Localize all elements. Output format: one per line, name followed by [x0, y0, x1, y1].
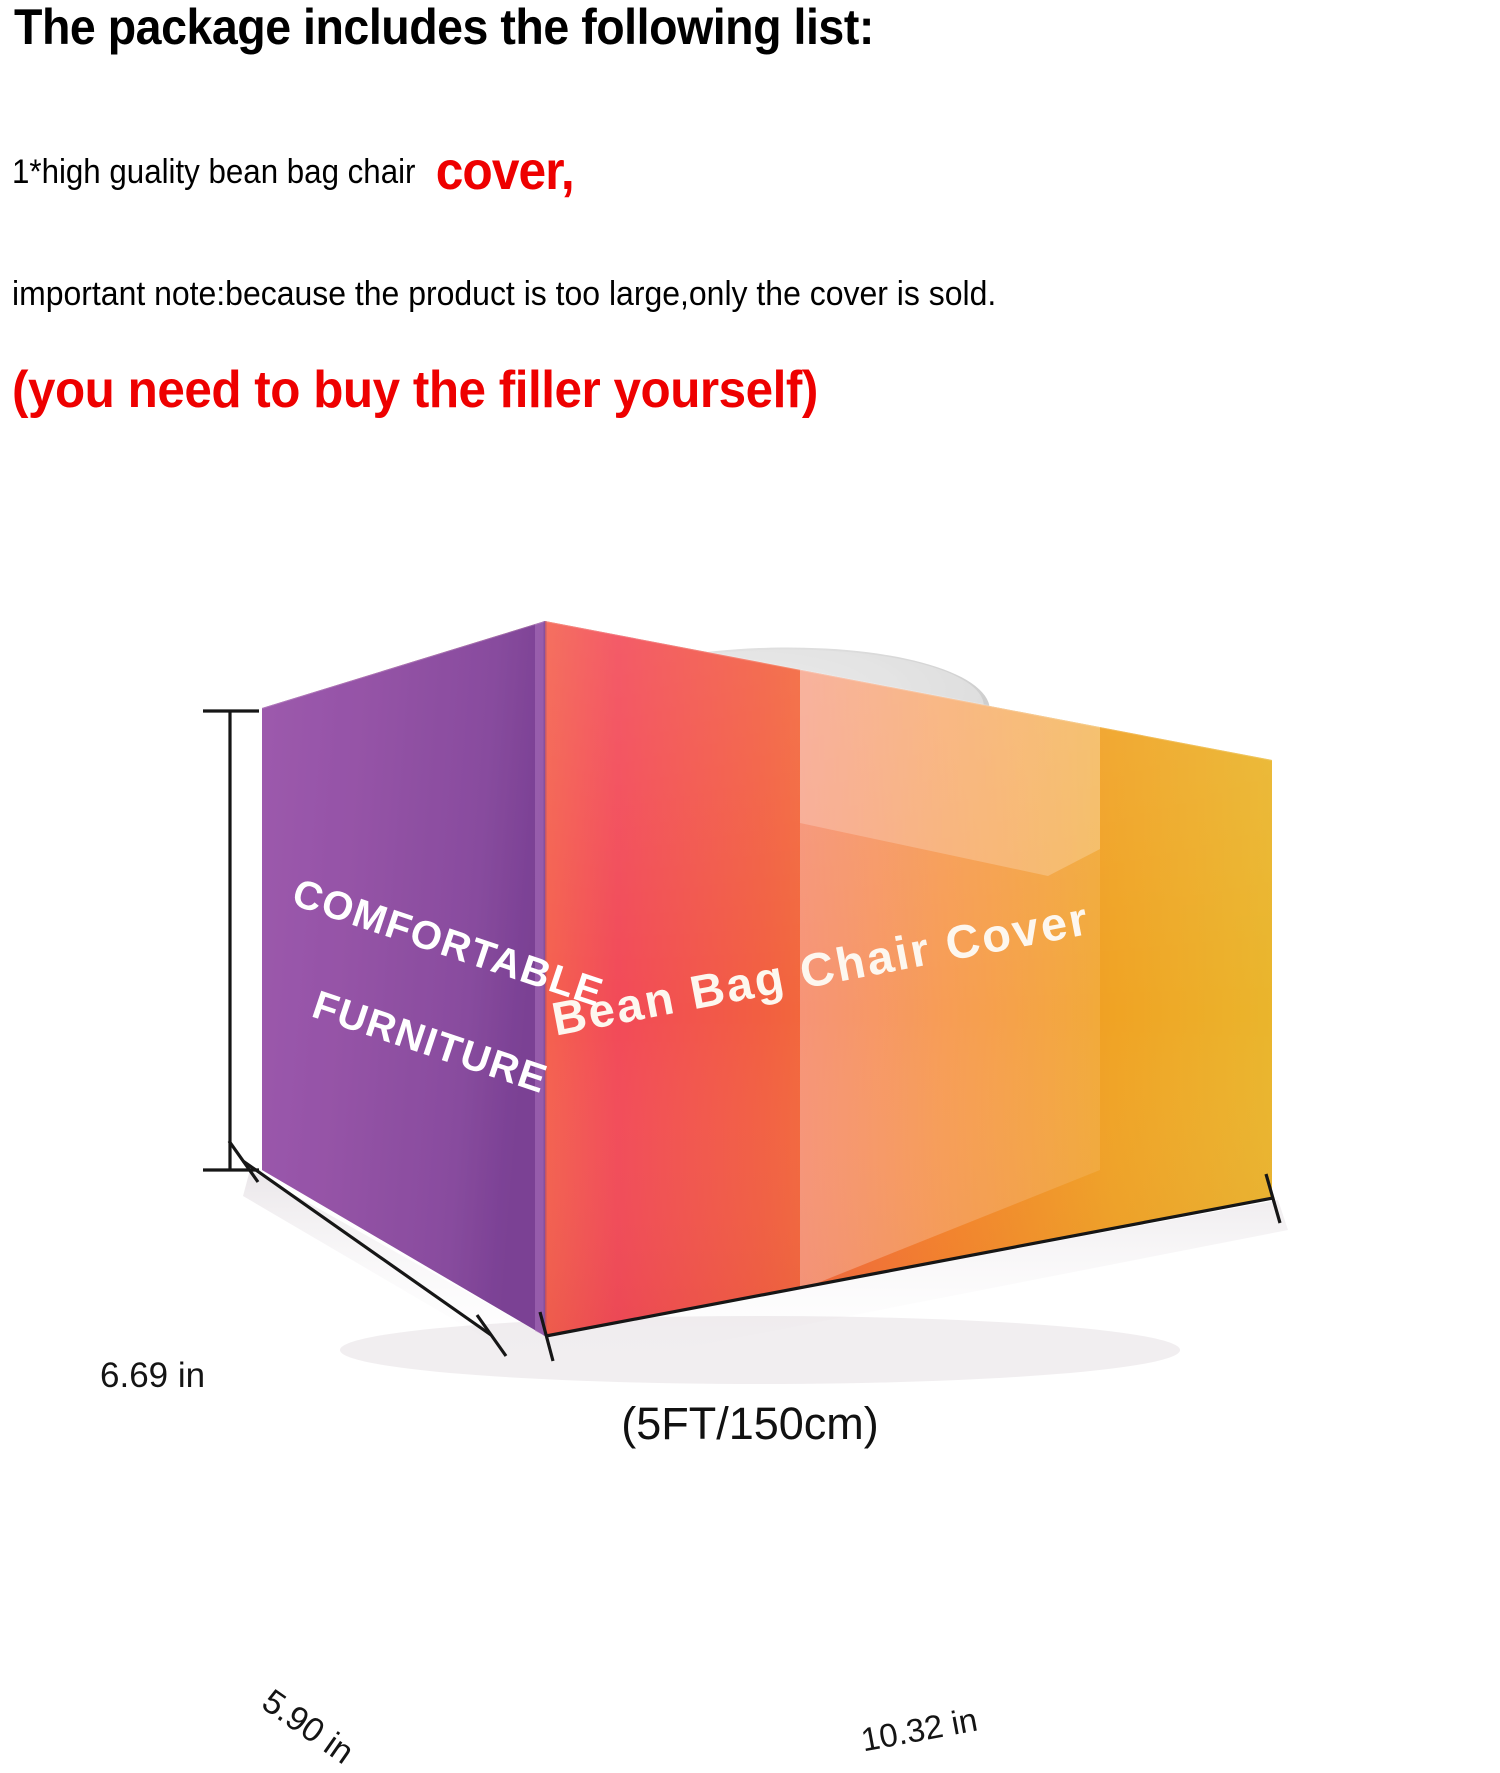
package-item-description: 1*high guality bean bag chair [12, 153, 415, 191]
page-title: The package includes the following list: [14, 0, 874, 56]
box-diagram-svg: Bean Bag Chair Cover COMFORTABLE FURNITU… [0, 470, 1500, 1480]
height-dimension-label: 6.69 in [100, 1356, 205, 1396]
important-note-line: important note:because the product is to… [12, 275, 996, 314]
package-contents-text-block: The package includes the following list:… [0, 0, 1500, 470]
filler-warning-line: (you need to buy the filler yourself) [12, 360, 818, 420]
product-box-illustration: Bean Bag Chair Cover COMFORTABLE FURNITU… [0, 470, 1500, 1480]
package-item-line: 1*high guality bean bag chaircover, [12, 140, 574, 202]
size-caption: (5FT/150cm) [0, 1398, 1500, 1450]
package-item-emphasis: cover, [436, 141, 574, 201]
depth-dimension-label: 5.90 in [255, 1682, 361, 1773]
vertical-dimension-line-icon [203, 711, 259, 1170]
width-dimension-label: 10.32 in [858, 1701, 980, 1760]
